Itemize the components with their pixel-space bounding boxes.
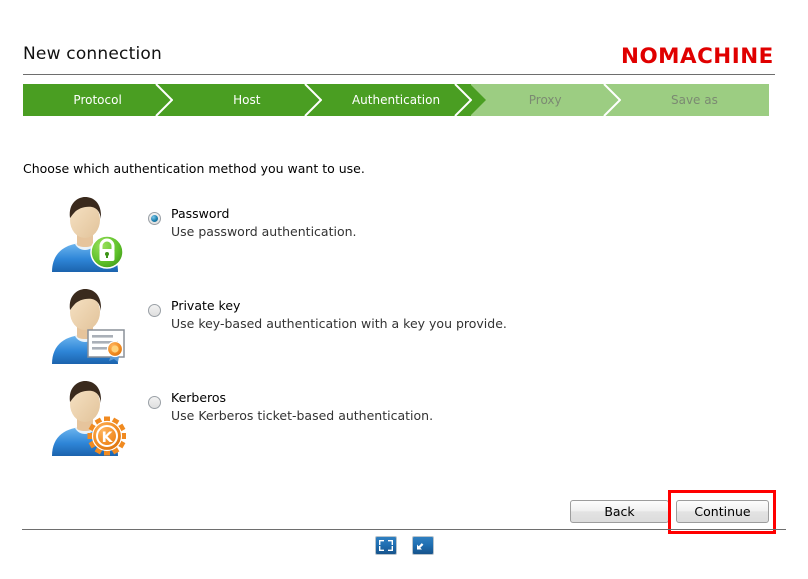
wizard-step-label: Save as [671, 93, 718, 107]
wizard-step-label: Authentication [352, 93, 440, 107]
back-button[interactable]: Back [570, 500, 669, 523]
step-chevron-icon [304, 84, 322, 116]
auth-option-title: Password [171, 206, 229, 221]
radio-kerberos[interactable] [148, 396, 161, 409]
auth-method-list: PasswordUse password authentication.Priv… [0, 190, 808, 466]
continue-button[interactable]: Continue [676, 500, 769, 523]
window-header: New connection NOMACHINE [0, 0, 808, 76]
wizard-step-host[interactable]: Host [172, 84, 321, 116]
user-certificate-icon [44, 286, 126, 364]
header-divider [23, 74, 775, 75]
auth-option-description: Use key-based authentication with a key … [171, 316, 507, 331]
new-connection-window: New connection NOMACHINE ProtocolHostAut… [0, 0, 808, 579]
auth-option-title: Private key [171, 298, 240, 313]
user-password-icon [44, 194, 126, 272]
restore-window-icon[interactable] [412, 536, 434, 555]
auth-option-row[interactable]: PasswordUse password authentication. [0, 190, 808, 282]
certificate-badge-icon [88, 330, 124, 362]
radio-password[interactable] [148, 212, 161, 225]
footer-divider [22, 529, 786, 530]
wizard-step-proxy[interactable]: Proxy [471, 84, 620, 116]
wizard-step-label: Host [233, 93, 260, 107]
footer-icon-bar [0, 536, 808, 555]
fullscreen-icon[interactable] [375, 536, 397, 555]
radio-selected-dot [151, 215, 158, 222]
radio-private-key[interactable] [148, 304, 161, 317]
wizard-step-save-as[interactable]: Save as [620, 84, 769, 116]
wizard-step-protocol[interactable]: Protocol [23, 84, 172, 116]
auth-option-description: Use password authentication. [171, 224, 357, 239]
step-chevron-icon [454, 84, 472, 116]
auth-option-row[interactable]: KKerberosUse Kerberos ticket-based authe… [0, 374, 808, 466]
step-chevron-icon [155, 84, 173, 116]
instruction-text: Choose which authentication method you w… [23, 161, 365, 176]
step-chevron-icon [603, 84, 621, 116]
auth-option-title: Kerberos [171, 390, 226, 405]
auth-option-row[interactable]: Private keyUse key-based authentication … [0, 282, 808, 374]
page-title: New connection [23, 44, 162, 64]
user-kerberos-icon: K [44, 378, 126, 456]
nomachine-logo: NOMACHINE [621, 44, 774, 68]
lock-badge-icon [91, 236, 123, 268]
wizard-step-authentication[interactable]: Authentication [321, 84, 470, 116]
svg-text:K: K [102, 430, 114, 446]
wizard-step-label: Proxy [529, 93, 562, 107]
auth-option-description: Use Kerberos ticket-based authentication… [171, 408, 433, 423]
wizard-step-label: Protocol [73, 93, 121, 107]
wizard-steps: ProtocolHostAuthenticationProxySave as [23, 84, 769, 116]
